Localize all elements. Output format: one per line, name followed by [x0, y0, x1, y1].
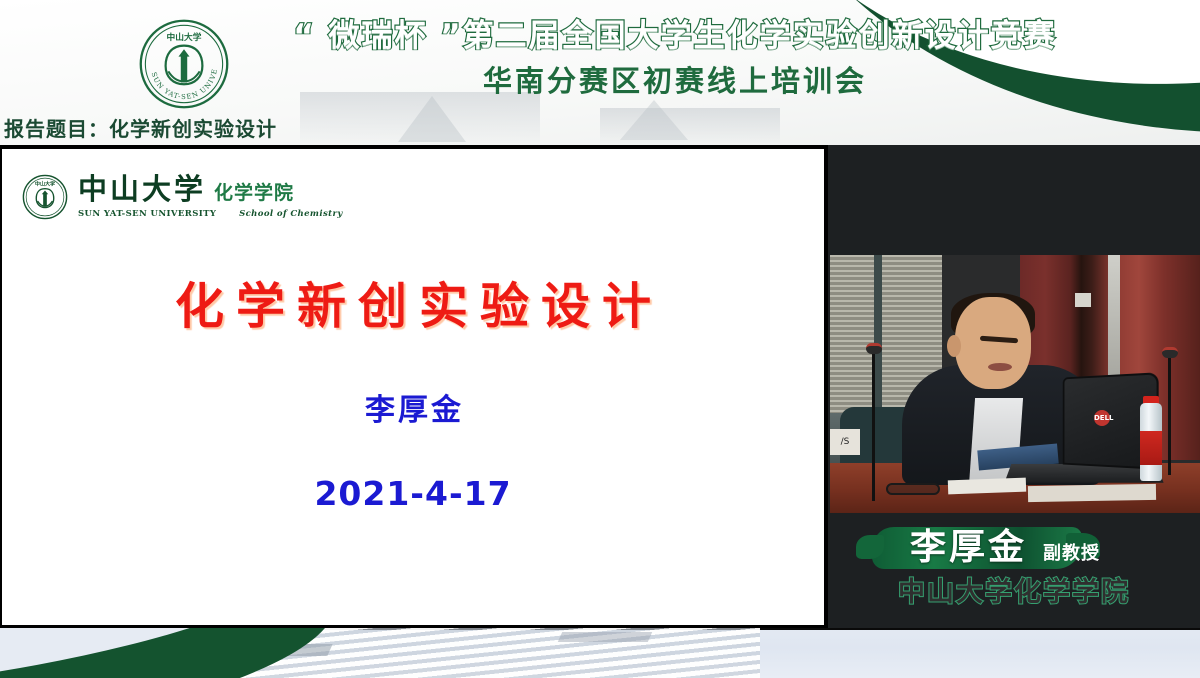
event-title-line-1: “ 微瑞杯 ”第二届全国大学生化学实验创新设计竞赛 [240, 16, 1110, 56]
event-header-banner: 中山大学 SUN YAT-SEN UNIVERSITY “ 微瑞杯 ”第二届全国… [0, 0, 1200, 145]
svg-text:SUN YAT-SEN UNIVERSITY: SUN YAT-SEN UNIVERSITY [138, 18, 219, 101]
slide-logo-school-en: School of Chemistry [239, 209, 343, 219]
dell-logo-icon: DELL [1094, 410, 1110, 426]
header-ghost-peak-1 [398, 96, 466, 142]
slide-speaker-name: 李厚金 [2, 396, 824, 426]
speaker-head [955, 297, 1031, 389]
event-title-line-2: 华南分赛区初赛线上培训会 [240, 64, 1110, 99]
microphone-head-right [1162, 347, 1178, 358]
header-ghost-building-1 [300, 92, 540, 145]
microphone-head-left [866, 343, 882, 354]
header-ghost-building-2 [600, 108, 780, 145]
presentation-slide[interactable]: 中山大学 中山大学 化学学院 SUN YAT-SEN UNIVERSITY Sc… [2, 149, 824, 625]
microphone-stand-left [872, 351, 875, 501]
paper-documents [948, 478, 1026, 495]
report-subject-line: 报告题目：化学新创实验设计 [4, 113, 277, 142]
sysu-seal-small-icon: 中山大学 [22, 174, 68, 220]
nametag-speaker-name: 李厚金 [910, 530, 1027, 566]
svg-text:中山大学: 中山大学 [35, 181, 55, 188]
screen-share-capture-area: 中山大学 中山大学 化学学院 SUN YAT-SEN UNIVERSITY Sc… [0, 145, 1200, 628]
header-ghost-peak-2 [620, 100, 688, 140]
screen: 中山大学 SUN YAT-SEN UNIVERSITY “ 微瑞杯 ”第二届全国… [0, 0, 1200, 678]
nametag-speaker-role: 副教授 [1043, 545, 1100, 563]
slide-date: 2021-4-17 [2, 477, 824, 510]
paper-stack [1028, 484, 1156, 502]
banner-title-block: “ 微瑞杯 ”第二届全国大学生化学实验创新设计竞赛 华南分赛区初赛线上培训会 [240, 16, 1110, 99]
speaker-video-frame: DELL /S [830, 255, 1200, 513]
slide-logo-cn-row: 中山大学 化学学院 [78, 175, 343, 204]
eyeglasses [886, 483, 940, 495]
water-bottle-label [1140, 431, 1162, 465]
slide-logo-university-cn: 中山大学 [78, 175, 206, 204]
nametag-affiliation: 中山大学化学学院 [828, 579, 1200, 606]
slide-logo-school-cn: 化学学院 [214, 184, 294, 203]
speaker-ear [947, 335, 961, 357]
microphone-stand-right [1168, 355, 1171, 475]
sysu-seal-icon: 中山大学 SUN YAT-SEN UNIVERSITY [138, 18, 230, 110]
slide-logo-university-en: SUN YAT-SEN UNIVERSITY [78, 209, 216, 219]
slide-logo-text: 中山大学 化学学院 SUN YAT-SEN UNIVERSITY School … [78, 175, 343, 219]
desk-nameplate: /S [830, 429, 860, 455]
speaker-video-panel[interactable]: DELL /S 李厚金 副教授 中山大学化学学院 [828, 145, 1200, 628]
door-plate [1075, 293, 1091, 307]
lower-third-name-tag: 李厚金 副教授 中山大学化学学院 [828, 515, 1200, 628]
window-frame [874, 255, 882, 415]
slide-logo-en-row: SUN YAT-SEN UNIVERSITY School of Chemist… [78, 209, 343, 219]
slide-institution-logo: 中山大学 中山大学 化学学院 SUN YAT-SEN UNIVERSITY Sc… [22, 174, 343, 220]
speaker-mouth [988, 363, 1012, 371]
svg-text:中山大学: 中山大学 [167, 31, 202, 43]
slide-main-title: 化学新创实验设计 [2, 282, 824, 331]
footer-shadow-block-2 [558, 632, 652, 642]
footer-graphic-band [0, 628, 1200, 678]
